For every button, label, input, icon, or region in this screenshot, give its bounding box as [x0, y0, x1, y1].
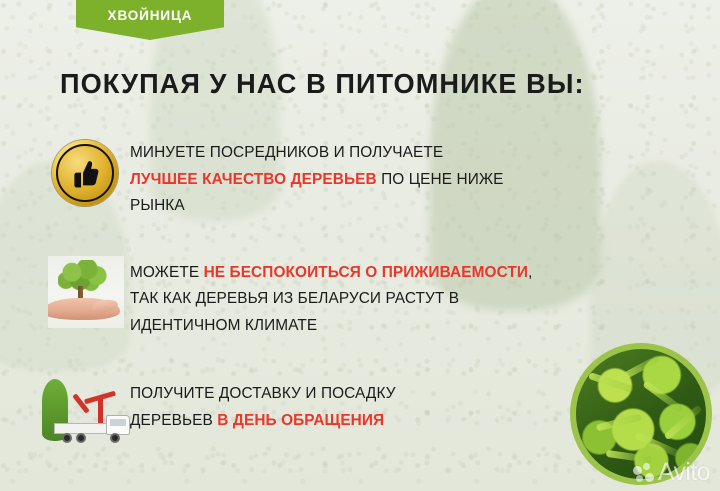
- page-title: ПОКУПАЯ У НАС В ПИТОМНИКЕ ВЫ:: [60, 70, 585, 98]
- benefit-text-plain: ПО ЦЕНЕ НИЖЕ: [377, 171, 504, 188]
- benefit-icon-slot: [0, 132, 130, 218]
- benefit-line: ИДЕНТИЧНОМ КЛИМАТЕ: [130, 313, 720, 340]
- benefit-line: ЛУЧШЕЕ КАЧЕСТВО ДЕРЕВЬЕВ ПО ЦЕНЕ НИЖЕ: [130, 167, 720, 194]
- benefit-text-plain: МИНУЕТЕ ПОСРЕДНИКОВ И ПОЛУЧАЕТЕ: [130, 144, 443, 161]
- truck-window: [110, 419, 126, 426]
- thuja-frond: [606, 450, 653, 463]
- hand-holding-tree-icon: [48, 256, 124, 328]
- benefit-text-plain: ПОЛУЧИТЕ ДОСТАВКУ И ПОСАДКУ: [130, 385, 396, 402]
- truck-bed: [54, 423, 114, 434]
- thuja-frond: [664, 405, 703, 441]
- benefit-text-highlight: ЛУЧШЕЕ КАЧЕСТВО ДЕРЕВЬЕВ: [130, 171, 377, 188]
- brand-badge-label: ХВОЙНИЦА: [108, 9, 193, 23]
- benefit-icon-slot: [0, 373, 130, 459]
- tree-canopy-shape: [58, 260, 108, 294]
- thuja-frond: [617, 355, 661, 383]
- truck-cab: [106, 415, 130, 435]
- crane-truck-icon: [40, 377, 140, 451]
- benefit-text-highlight: НЕ БЕСПОКОИТЬСЯ О ПРИЖИВАЕМОСТИ: [204, 264, 529, 281]
- benefit-text-plain: ДЕРЕВЬЕВ: [130, 412, 217, 429]
- benefit-icon-slot: [0, 252, 130, 338]
- thuja-foliage-photo: [570, 343, 712, 485]
- benefit-text-tail: ,: [528, 264, 532, 281]
- benefit-text-plain: МОЖЕТЕ: [130, 264, 204, 281]
- crane-post: [98, 399, 103, 425]
- thuja-frond: [596, 414, 642, 432]
- truck-wheel: [76, 433, 86, 443]
- benefit-line: МОЖЕТЕ НЕ БЕСПОКОИТЬСЯ О ПРИЖИВАЕМОСТИ,: [130, 260, 720, 287]
- benefit-line: МИНУЕТЕ ПОСРЕДНИКОВ И ПОЛУЧАЕТЕ: [130, 140, 720, 167]
- benefit-line: РЫНКА: [130, 193, 720, 220]
- poster-canvas: ХВОЙНИЦА ПОКУПАЯ У НАС В ПИТОМНИКЕ ВЫ: М…: [0, 0, 720, 491]
- benefit-text-highlight: В ДЕНЬ ОБРАЩЕНИЯ: [217, 412, 384, 429]
- thuja-frond: [642, 380, 683, 413]
- benefit-line: ТАК КАК ДЕРЕВЬЯ ИЗ БЕЛАРУСИ РАСТУТ В: [130, 286, 720, 313]
- benefit-row-quality: МИНУЕТЕ ПОСРЕДНИКОВ И ПОЛУЧАЕТЕ ЛУЧШЕЕ К…: [0, 132, 720, 220]
- benefit-text-survival: МОЖЕТЕ НЕ БЕСПОКОИТЬСЯ О ПРИЖИВАЕМОСТИ, …: [130, 252, 720, 340]
- truck-wheel: [110, 433, 120, 443]
- truck-wheel: [62, 433, 72, 443]
- benefit-text-quality: МИНУЕТЕ ПОСРЕДНИКОВ И ПОЛУЧАЕТЕ ЛУЧШЕЕ К…: [130, 132, 720, 220]
- benefit-text-plain: ТАК КАК ДЕРЕВЬЯ ИЗ БЕЛАРУСИ РАСТУТ В: [130, 290, 459, 307]
- benefit-row-survival: МОЖЕТЕ НЕ БЕСПОКОИТЬСЯ О ПРИЖИВАЕМОСТИ, …: [0, 252, 720, 340]
- benefit-text-plain: РЫНКА: [130, 197, 185, 214]
- benefit-text-plain: ИДЕНТИЧНОМ КЛИМАТЕ: [130, 317, 317, 334]
- gold-thumbs-up-medallion-icon: [52, 140, 118, 206]
